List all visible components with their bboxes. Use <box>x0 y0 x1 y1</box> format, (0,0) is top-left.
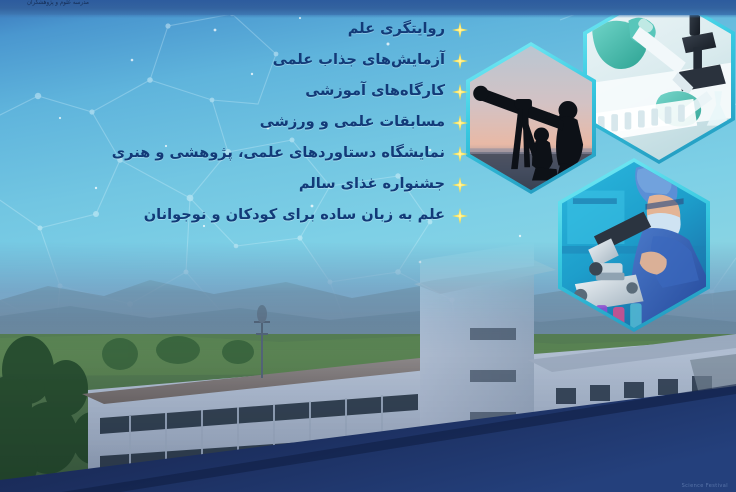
list-item[interactable]: مسابقات علمی و ورزشی <box>48 107 468 138</box>
list-item-label: مسابقات علمی و ورزشی <box>260 115 445 130</box>
sparkle-star-icon <box>452 208 468 224</box>
sparkle-star-icon <box>452 146 468 162</box>
sparkle-star-icon <box>452 177 468 193</box>
laboratory-pipette-microscope-photo <box>583 0 735 164</box>
list-item-label: نمایشگاه دستاوردهای علمی، پژوهشی و هنری <box>112 146 445 161</box>
list-item[interactable]: علم به زبان ساده برای کودکان و نوجوانان <box>48 200 468 231</box>
list-item-label: علم به زبان ساده برای کودکان و نوجوانان <box>144 208 445 223</box>
list-item[interactable]: کارگاه‌های آموزشی <box>48 76 468 107</box>
list-item-label: کارگاه‌های آموزشی <box>305 84 445 99</box>
footer-note: Science Festival <box>682 483 728 489</box>
researcher-microscope-photo <box>558 158 710 332</box>
program-list: روایتگری علم آزمایش‌های جذاب علمی کارگاه… <box>48 14 468 231</box>
sparkle-star-icon <box>452 22 468 38</box>
list-item[interactable]: نمایشگاه دستاوردهای علمی، پژوهشی و هنری <box>48 138 468 169</box>
watermark-text: مدرسه علوم و پژوهشگران <box>27 0 89 6</box>
list-item[interactable]: روایتگری علم <box>48 14 468 45</box>
sparkle-star-icon <box>452 84 468 100</box>
top-header-band <box>0 0 736 15</box>
list-item-label: جشنواره غذای سالم <box>299 177 445 192</box>
sparkle-star-icon <box>452 115 468 131</box>
list-item-label: آزمایش‌های جذاب علمی <box>273 53 445 68</box>
list-item[interactable]: جشنواره غذای سالم <box>48 169 468 200</box>
sparkle-star-icon <box>452 53 468 69</box>
list-item-label: روایتگری علم <box>348 22 445 37</box>
list-item[interactable]: آزمایش‌های جذاب علمی <box>48 45 468 76</box>
poster-canvas: Science Festival <box>0 0 736 492</box>
